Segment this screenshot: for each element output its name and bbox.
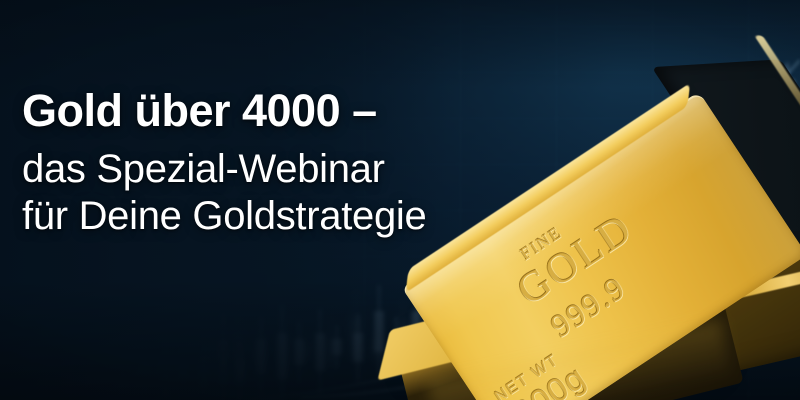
headline-line-1: Gold über 4000 – bbox=[22, 88, 492, 133]
headline-line-3: für Deine Goldstrategie bbox=[22, 194, 492, 239]
promo-banner: FINE GOLD 999.9 NET WT 1000g Gold über 4… bbox=[0, 0, 800, 400]
headline-block: Gold über 4000 – das Spezial-Webinar für… bbox=[22, 88, 492, 239]
headline-line-2: das Spezial-Webinar bbox=[22, 147, 492, 192]
